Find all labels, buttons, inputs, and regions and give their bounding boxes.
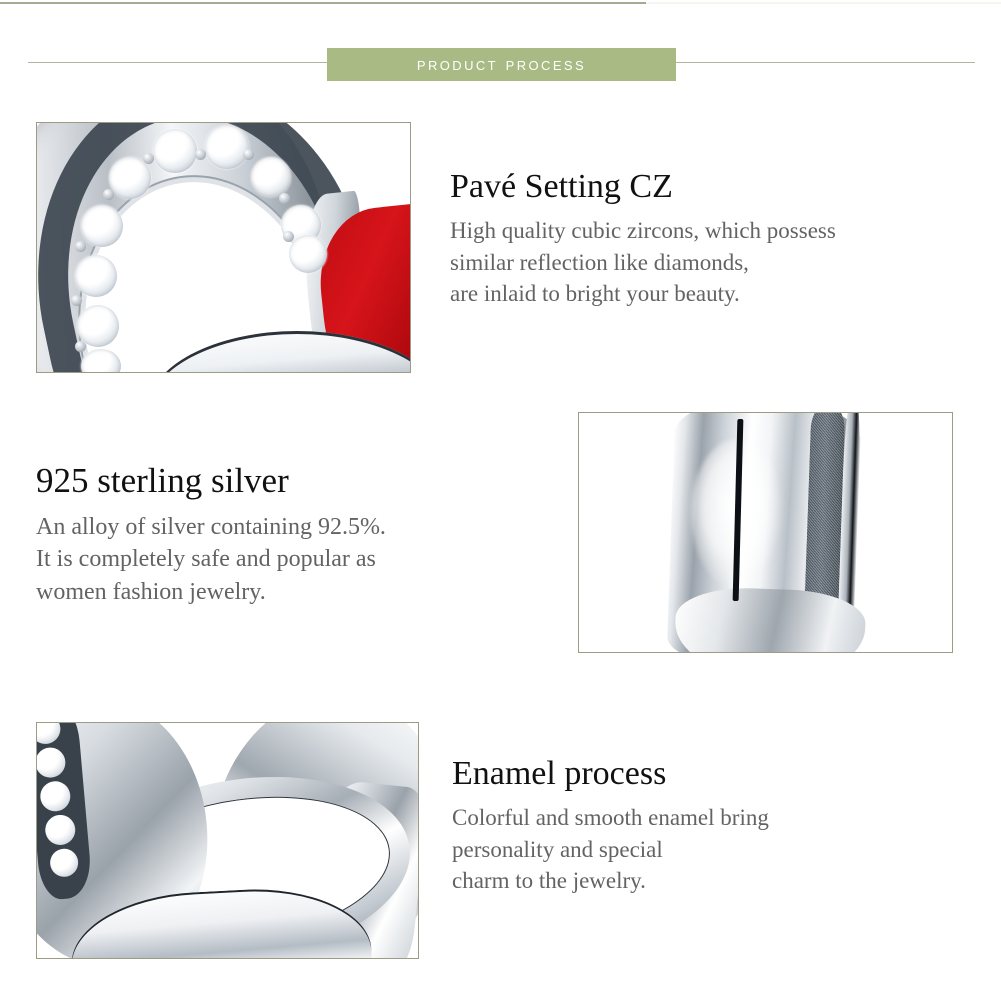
setting-prong	[143, 153, 154, 164]
cz-stone	[39, 780, 72, 813]
feature-body-line: similar reflection like diamonds,	[450, 247, 836, 279]
feature-body-line: It is completely safe and popular as	[36, 543, 386, 576]
cz-stone	[49, 848, 79, 878]
feature-image-enamel-canvas	[37, 723, 418, 958]
feature-title-925-sterling-silver: 925 sterling silver	[36, 462, 386, 501]
setting-prong	[75, 241, 86, 252]
setting-prong	[243, 149, 254, 160]
cz-stone	[77, 305, 119, 347]
feature-title-enamel-process: Enamel process	[452, 755, 769, 792]
feature-body-line: High quality cubic zircons, which posses…	[450, 215, 836, 247]
cz-stone	[289, 235, 327, 273]
setting-prong	[279, 193, 290, 204]
cz-stone	[251, 157, 291, 197]
setting-prong	[195, 149, 206, 160]
feature-image-pave-setting-cz	[36, 122, 411, 373]
feature-text-925-sterling-silver: 925 sterling silver An alloy of silver c…	[36, 462, 386, 609]
section-title-banner: Product process	[327, 48, 676, 81]
feature-body-line: Colorful and smooth enamel bring	[452, 802, 769, 834]
feature-body-line: are inlaid to bright your beauty.	[450, 278, 836, 310]
feature-image-band-canvas	[579, 413, 952, 652]
cz-stone	[75, 255, 117, 297]
section-title-label: Product process	[417, 55, 586, 75]
cz-stone	[81, 205, 123, 247]
feature-image-pave-canvas	[37, 123, 410, 372]
setting-prong	[71, 295, 82, 306]
feature-body-enamel-process: Colorful and smooth enamel bring persona…	[452, 802, 769, 897]
cz-stone	[205, 125, 249, 169]
feature-text-pave-setting-cz: Pavé Setting CZ High quality cubic zirco…	[450, 168, 836, 310]
cz-stone	[44, 814, 77, 847]
feature-body-line: charm to the jewelry.	[452, 865, 769, 897]
setting-prong	[103, 189, 114, 200]
feature-body-line: women fashion jewelry.	[36, 576, 386, 609]
cz-stone	[153, 129, 197, 173]
cz-stone	[109, 157, 151, 199]
feature-image-enamel-process	[36, 722, 419, 959]
setting-prong	[283, 231, 294, 242]
feature-body-pave-setting-cz: High quality cubic zircons, which posses…	[450, 215, 836, 310]
feature-image-925-sterling-silver	[578, 412, 953, 653]
top-divider-dark	[0, 2, 646, 4]
cz-stone	[37, 746, 67, 779]
feature-body-925-sterling-silver: An alloy of silver containing 92.5%. It …	[36, 511, 386, 610]
feature-body-line: personality and special	[452, 834, 769, 866]
feature-body-line: An alloy of silver containing 92.5%.	[36, 511, 386, 544]
feature-text-enamel-process: Enamel process Colorful and smooth ename…	[452, 755, 769, 897]
top-divider-light	[646, 2, 1001, 4]
cz-stone	[37, 723, 62, 745]
feature-title-pave-setting-cz: Pavé Setting CZ	[450, 168, 836, 205]
setting-prong	[75, 341, 86, 352]
section-header: Product process	[0, 48, 1001, 82]
